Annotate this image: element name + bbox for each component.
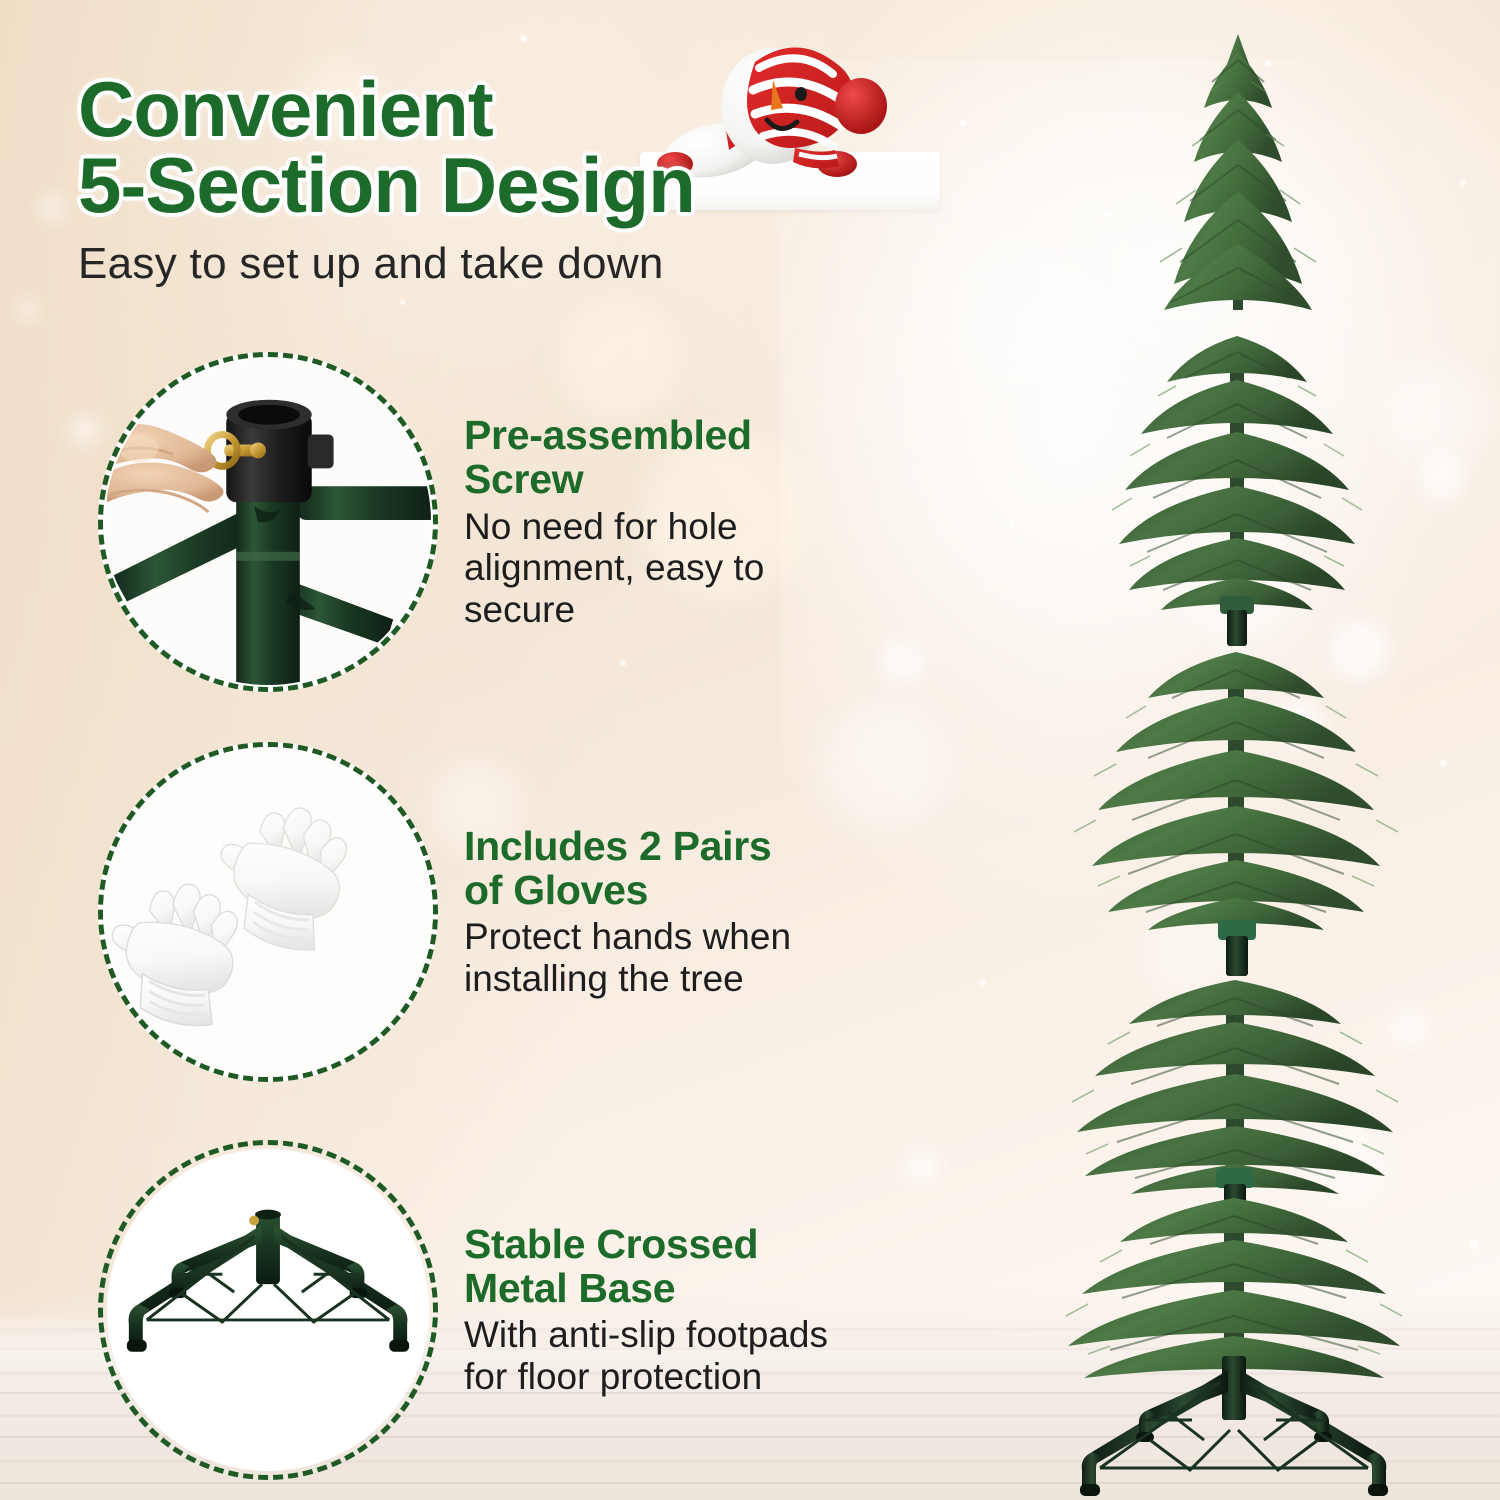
feature-heading: Includes 2 Pairs of Gloves <box>464 825 894 913</box>
tree-stand <box>1080 1356 1388 1496</box>
feature-heading: Stable Crossed Metal Base <box>464 1223 894 1311</box>
feature-pre-assembled-screw: Pre-assembled Screw No need for hole ali… <box>98 352 894 692</box>
feature-image-gloves <box>98 742 438 1082</box>
header-block: Convenient 5-Section Design Easy to set … <box>78 72 908 289</box>
section-connector <box>1218 920 1256 976</box>
feature-text-screw: Pre-assembled Screw No need for hole ali… <box>464 414 894 630</box>
gloves-illustration <box>103 746 433 1078</box>
page-subtitle: Easy to set up and take down <box>78 239 908 289</box>
feature-body: Protect hands when installing the tree <box>464 916 894 999</box>
tree-section-2 <box>1112 336 1362 646</box>
feature-image-screw <box>98 352 438 692</box>
footpad <box>1368 1484 1388 1496</box>
footpad <box>1080 1484 1100 1496</box>
metal-stand-illustration <box>103 1144 433 1476</box>
feature-body: With anti-slip footpads for floor protec… <box>464 1314 894 1397</box>
tree-section-4 <box>1072 980 1398 1220</box>
tree-section-3 <box>1074 652 1398 976</box>
feature-includes-gloves: Includes 2 Pairs of Gloves Protect hands… <box>98 742 894 1082</box>
feature-heading: Pre-assembled Screw <box>464 414 894 502</box>
tree-sections-illustration <box>980 0 1500 1500</box>
feature-body: No need for hole alignment, easy to secu… <box>464 506 894 630</box>
product-tree-exploded-view <box>980 0 1500 1500</box>
tree-section-5 <box>1066 1198 1402 1378</box>
feature-text-metal-base: Stable Crossed Metal Base With anti-slip… <box>464 1223 894 1398</box>
tree-section-1 <box>1160 34 1316 310</box>
screw-hub-illustration <box>103 356 433 688</box>
infographic-canvas: Convenient 5-Section Design Easy to set … <box>0 0 1500 1500</box>
feature-stable-metal-base: Stable Crossed Metal Base With anti-slip… <box>98 1140 894 1480</box>
section-connector <box>1220 596 1254 646</box>
page-title: Convenient 5-Section Design <box>78 72 908 223</box>
feature-text-gloves: Includes 2 Pairs of Gloves Protect hands… <box>464 825 894 1000</box>
feature-image-metal-base <box>98 1140 438 1480</box>
